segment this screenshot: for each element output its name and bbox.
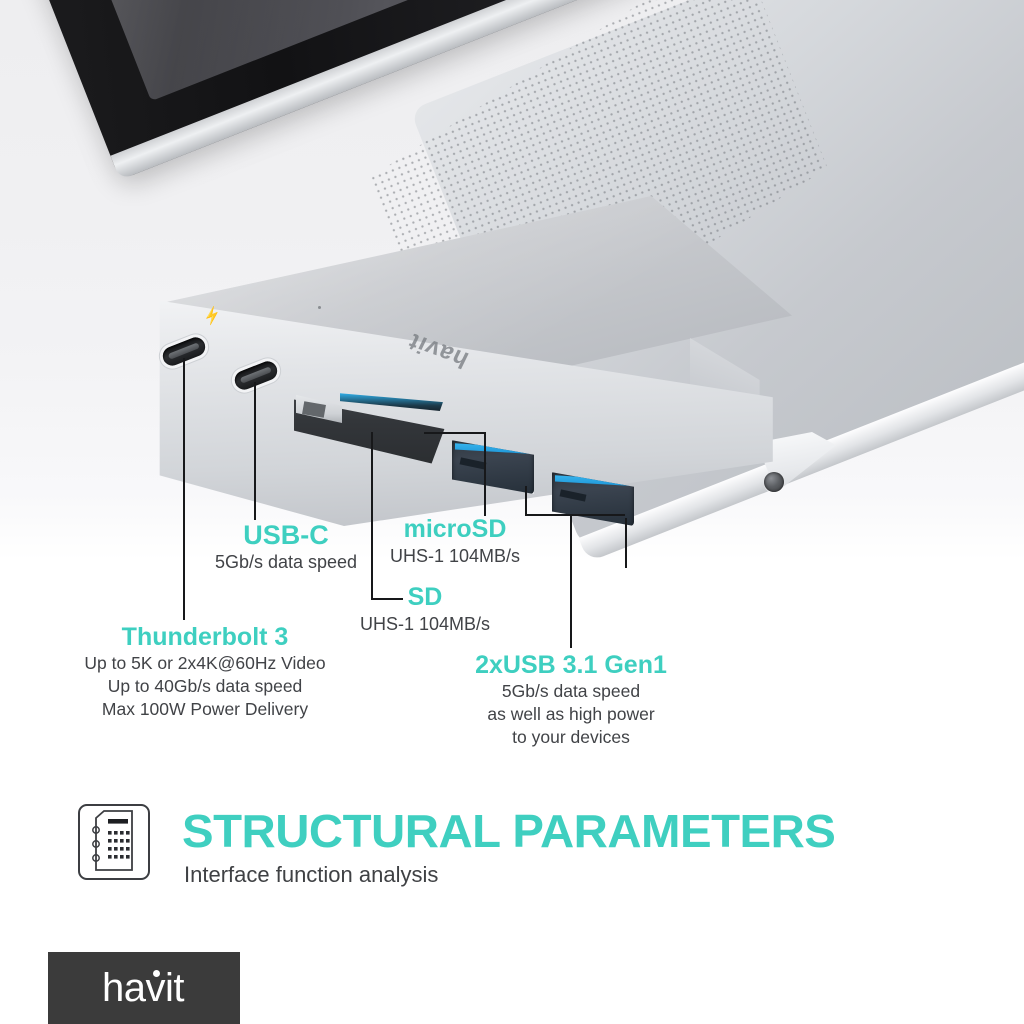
section-title: STRUCTURAL PARAMETERS <box>182 806 835 856</box>
callout-microsd-title: microSD <box>370 515 540 544</box>
infographic-page: 1 2 3 4 5 tab Q W E caps lock A shift <box>0 0 1024 1024</box>
callout-sd-title: SD <box>340 583 510 612</box>
leader-line-microsd-vertical <box>484 432 486 516</box>
spec-sheet-icon <box>78 804 150 880</box>
callout-thunderbolt-line-3: Max 100W Power Delivery <box>35 698 375 721</box>
usb-tab-2 <box>560 489 587 501</box>
brand-wordmark: havit <box>102 968 186 1008</box>
callout-usb31-line-2: as well as high power <box>436 703 706 726</box>
leader-line-usb31-branch-2 <box>625 518 627 568</box>
hub-led-indicator <box>318 306 321 309</box>
callout-thunderbolt-title: Thunderbolt 3 <box>35 622 375 652</box>
callout-usb31-line-3: to your devices <box>436 726 706 749</box>
callout-usb31-title: 2xUSB 3.1 Gen1 <box>436 650 706 680</box>
section-heading: STRUCTURAL PARAMETERS Interface function… <box>78 800 978 900</box>
section-subtitle: Interface function analysis <box>184 862 438 888</box>
spec-sheet-glyph <box>80 806 148 878</box>
callout-usb31-line-1: 5Gb/s data speed <box>436 680 706 703</box>
callout-thunderbolt-line-1: Up to 5K or 2x4K@60Hz Video <box>35 652 375 675</box>
leader-line-usb31-stem <box>570 514 572 648</box>
usb-tab-1 <box>460 457 487 469</box>
leader-line-usb31-join <box>525 514 625 516</box>
callout-microsd: microSD UHS-1 104MB/s <box>370 515 540 568</box>
callout-thunderbolt-line-2: Up to 40Gb/s data speed <box>35 675 375 698</box>
hub-side-jack <box>764 472 784 492</box>
callout-thunderbolt: Thunderbolt 3 Up to 5K or 2x4K@60Hz Vide… <box>35 622 375 721</box>
leader-line-microsd-elbow <box>424 432 486 434</box>
callout-usbc: USB-C 5Gb/s data speed <box>196 520 376 574</box>
callout-usbc-line-1: 5Gb/s data speed <box>196 550 376 574</box>
brand-badge: havit <box>48 952 240 1024</box>
product-photo-area: 1 2 3 4 5 tab Q W E caps lock A shift <box>0 0 1024 560</box>
leader-line-thunderbolt <box>183 358 185 620</box>
callout-usb31: 2xUSB 3.1 Gen1 5Gb/s data speed as well … <box>436 650 706 749</box>
leader-line-usb31-branch-1 <box>525 486 527 515</box>
usb-c-hub: ⚡ havit <box>0 0 1024 560</box>
callout-microsd-line-1: UHS-1 104MB/s <box>370 544 540 568</box>
leader-line-usbc <box>254 382 256 520</box>
callout-usbc-title: USB-C <box>196 520 376 550</box>
